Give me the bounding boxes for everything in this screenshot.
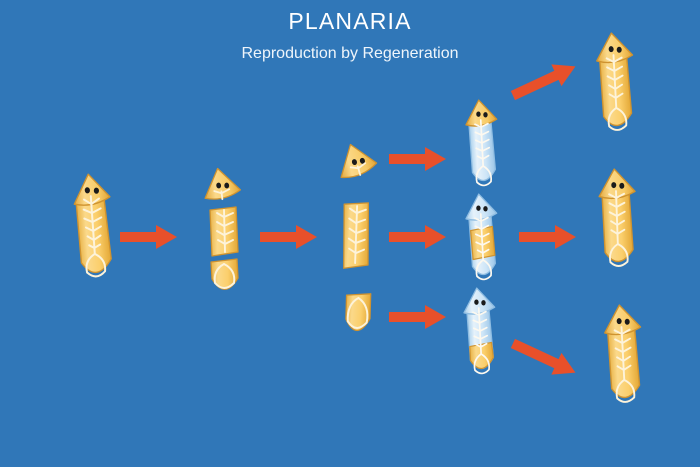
stage-1-intact-worm [62, 168, 124, 288]
arrow-stage3-head-to-regen [388, 146, 448, 172]
head-fragment [202, 166, 242, 201]
infographic-canvas: PLANARIA Reproduction by Regeneration [0, 0, 700, 467]
tail-fragment [211, 259, 238, 289]
stage-4-regenerating-from-middle [458, 190, 506, 286]
stage-2-cut-worm [196, 166, 250, 302]
stage-3-tail-fragment [336, 292, 380, 344]
stage-5-new-planarian-top [586, 28, 644, 140]
arrow-regen-middle-to-new-middle [516, 224, 580, 250]
stage-3-middle-fragment [332, 200, 378, 272]
arrow-regen-bottom-to-new-bottom [507, 331, 583, 385]
middle-fragment [332, 200, 378, 272]
new-planarian-top [586, 28, 644, 140]
stage-3-head-fragment [330, 140, 380, 188]
arrow-stage1-to-stage2 [120, 224, 178, 250]
whole-planarian [62, 168, 124, 288]
regenerating-from-tail [456, 284, 504, 380]
stage-5-new-planarian-bottom [594, 300, 652, 412]
tail-fragment [336, 292, 380, 344]
regenerating-from-middle [458, 190, 506, 286]
stage-4-regenerating-from-tail [456, 284, 504, 380]
cut-fragments-group [196, 166, 250, 302]
regenerating-from-head [458, 96, 506, 192]
stage-5-new-planarian-middle [588, 164, 646, 276]
new-planarian-bottom [594, 300, 652, 412]
middle-fragment [210, 207, 238, 256]
arrow-stage3-tail-to-regen [388, 304, 448, 330]
head-fragment [330, 140, 380, 188]
new-planarian-middle [588, 164, 646, 276]
arrow-stage3-middle-to-regen [388, 224, 448, 250]
arrow-stage2-to-stage3 [260, 224, 318, 250]
stage-4-regenerating-from-head [458, 96, 506, 192]
